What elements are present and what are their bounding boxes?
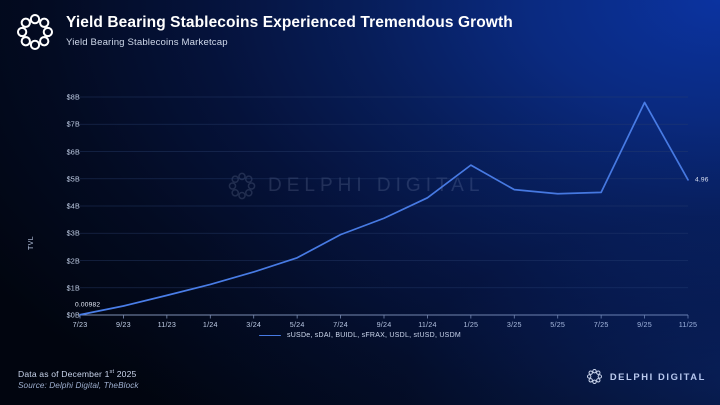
data-point-label: 0.00982 <box>75 301 100 308</box>
chart-canvas <box>0 62 720 330</box>
chart-plot-area: DELPHI DIGITAL TVL $0B$1B$2B$3B$4B$5B$6B… <box>0 62 720 330</box>
x-axis-tick-label: 11/24 <box>418 320 436 329</box>
x-axis-tick-label: 11/23 <box>158 320 176 329</box>
brand-mark: DELPHI DIGITAL <box>585 367 706 386</box>
y-axis-tick-label: $2B <box>67 256 80 265</box>
y-axis-tick-label: $5B <box>67 174 80 183</box>
data-as-of-prefix: Data as of December 1 <box>18 369 110 379</box>
page-subtitle: Yield Bearing Stablecoins Marketcap <box>66 36 513 49</box>
x-axis-tick-label: 9/24 <box>377 320 392 329</box>
y-axis-tick-label: $4B <box>67 202 80 211</box>
delphi-ring-logo-icon <box>585 367 604 386</box>
x-axis-tick-label: 5/24 <box>290 320 305 329</box>
x-axis-tick-label: 9/25 <box>637 320 652 329</box>
y-axis-tick-label: $0B <box>67 311 80 320</box>
x-axis-tick-label: 1/25 <box>463 320 478 329</box>
x-axis-tick-label: 1/24 <box>203 320 218 329</box>
x-axis-tick-label: 11/25 <box>679 320 697 329</box>
chart-legend: sUSDe, sDAI, BUIDL, sFRAX, USDL, stUSD, … <box>0 332 720 339</box>
x-axis-tick-label: 7/24 <box>333 320 348 329</box>
x-axis-tick-label: 3/24 <box>246 320 261 329</box>
y-axis-tick-label: $1B <box>67 283 80 292</box>
x-axis-tick-label: 5/25 <box>550 320 565 329</box>
y-axis-tick-label: $8B <box>67 93 80 102</box>
x-axis-tick-label: 7/23 <box>73 320 88 329</box>
legend-item-label: sUSDe, sDAI, BUIDL, sFRAX, USDL, stUSD, … <box>287 332 461 339</box>
ordinal-suffix: st <box>110 369 115 375</box>
delphi-ring-logo-icon <box>12 9 58 55</box>
legend-swatch <box>259 335 281 337</box>
footer-notes: Data as of December 1st 2025 Source: Del… <box>18 366 139 392</box>
y-axis-tick-label: $3B <box>67 229 80 238</box>
header: Yield Bearing Stablecoins Experienced Tr… <box>0 0 720 62</box>
y-axis-tick-label: $6B <box>67 147 80 156</box>
data-as-of-year: 2025 <box>117 369 137 379</box>
data-as-of-text: Data as of December 1st 2025 <box>18 366 139 380</box>
y-axis-tick-label: $7B <box>67 120 80 129</box>
page-title: Yield Bearing Stablecoins Experienced Tr… <box>66 14 513 32</box>
x-axis-tick-label: 9/23 <box>116 320 131 329</box>
brand-label: DELPHI DIGITAL <box>610 371 706 382</box>
data-point-label: 4.96 <box>695 176 709 183</box>
y-axis-labels: $0B$1B$2B$3B$4B$5B$6B$7B$8B <box>48 62 80 330</box>
chart-slide: Yield Bearing Stablecoins Experienced Tr… <box>0 0 720 405</box>
x-axis-tick-label: 3/25 <box>507 320 522 329</box>
source-text: Source: Delphi Digital, TheBlock <box>18 380 139 392</box>
x-axis-tick-label: 7/25 <box>594 320 609 329</box>
